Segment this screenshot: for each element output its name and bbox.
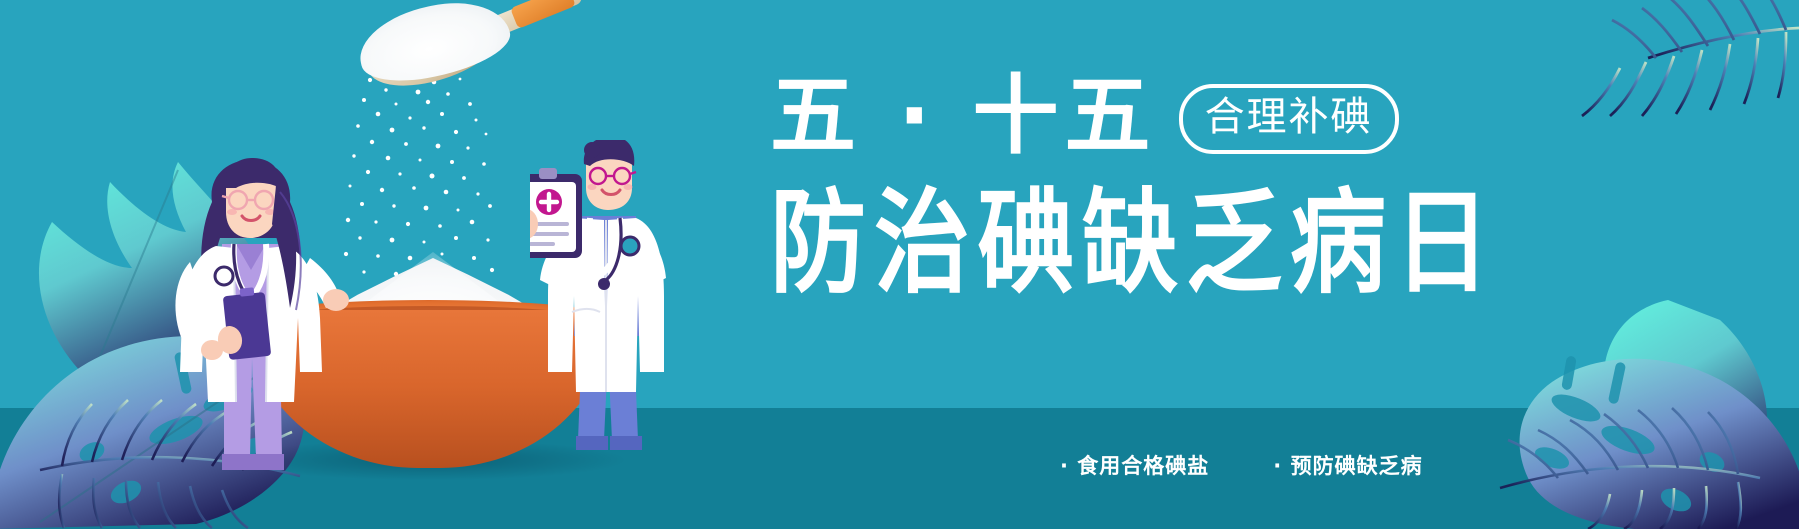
tagline-item-1: · 食用合格碘盐 xyxy=(1060,452,1209,480)
tagline-item-2: · 预防碘缺乏病 xyxy=(1273,452,1422,480)
date-kicker: 五 · 十五 xyxy=(770,68,1157,164)
main-title: 防治碘缺乏病日 xyxy=(770,178,1650,308)
iodine-deficiency-day-banner: 五 · 十五 合理补碘 防治碘缺乏病日 · 食用合格碘盐 · 预防碘缺乏病 xyxy=(0,0,1799,529)
salt-illustration-scene xyxy=(0,0,760,529)
male-doctor-illustration xyxy=(530,140,680,450)
spoon-handle-tip xyxy=(510,0,576,29)
female-doctor-illustration xyxy=(150,158,350,470)
headline-first-line: 五 · 十五 合理补碘 xyxy=(770,68,1650,164)
tagline-group: · 食用合格碘盐 · 预防碘缺乏病 xyxy=(1060,452,1423,480)
falling-salt-grains xyxy=(330,74,520,284)
slogan-badge: 合理补碘 xyxy=(1179,84,1399,154)
headline-block: 五 · 十五 合理补碘 防治碘缺乏病日 xyxy=(770,68,1650,288)
